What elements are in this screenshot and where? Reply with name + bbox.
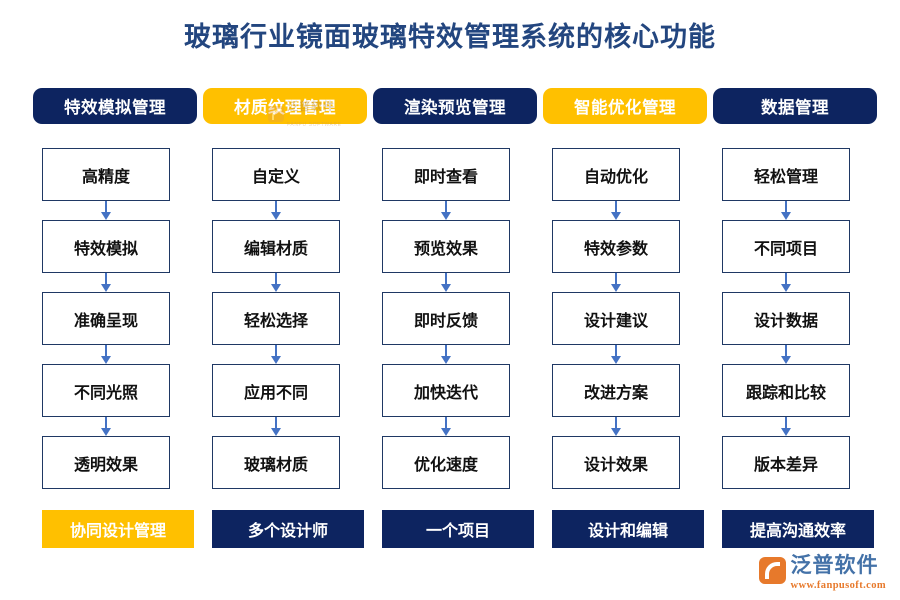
column-footer-3[interactable]: 设计和编辑 — [552, 510, 704, 548]
flow-arrow-1-2 — [274, 345, 278, 364]
flow-arrow-2-1 — [444, 273, 448, 292]
flow-cell-0-1[interactable]: 特效模拟 — [42, 220, 170, 273]
flow-cell-2-3[interactable]: 加快迭代 — [382, 364, 510, 417]
column-header-1[interactable]: 材质纹理管理 — [203, 88, 367, 124]
flow-arrow-2-2 — [444, 345, 448, 364]
column-footer-0[interactable]: 协同设计管理 — [42, 510, 194, 548]
flow-cell-0-2[interactable]: 准确呈现 — [42, 292, 170, 345]
brand-logo: 泛普软件 www.fanpusoft.com — [759, 555, 886, 592]
flow-cell-4-3[interactable]: 跟踪和比较 — [722, 364, 850, 417]
flow-cell-1-0[interactable]: 自定义 — [212, 148, 340, 201]
flow-cell-4-0[interactable]: 轻松管理 — [722, 148, 850, 201]
column-header-4[interactable]: 数据管理 — [713, 88, 877, 124]
brand-name-cn: 泛普软件 — [791, 554, 879, 577]
flow-arrow-3-2 — [614, 345, 618, 364]
flow-cell-1-2[interactable]: 轻松选择 — [212, 292, 340, 345]
flow-cell-1-3[interactable]: 应用不同 — [212, 364, 340, 417]
column-footer-1[interactable]: 多个设计师 — [212, 510, 364, 548]
flow-cell-3-4[interactable]: 设计效果 — [552, 436, 680, 489]
flow-cell-3-1[interactable]: 特效参数 — [552, 220, 680, 273]
flow-arrow-3-1 — [614, 273, 618, 292]
column-header-2[interactable]: 渲染预览管理 — [373, 88, 537, 124]
flow-arrow-1-1 — [274, 273, 278, 292]
flow-arrow-0-2 — [104, 345, 108, 364]
brand-url: www.fanpusoft.com — [791, 580, 886, 591]
flow-cell-4-4[interactable]: 版本差异 — [722, 436, 850, 489]
flow-cell-0-0[interactable]: 高精度 — [42, 148, 170, 201]
flow-arrow-3-0 — [614, 201, 618, 220]
flow-cell-0-4[interactable]: 透明效果 — [42, 436, 170, 489]
flow-arrow-1-0 — [274, 201, 278, 220]
flow-arrow-2-0 — [444, 201, 448, 220]
flowchart-board: 特效模拟管理 高精度 特效模拟 准确呈现 不同光照 透明效果 协同设计管理 材质… — [0, 0, 900, 600]
flow-cell-3-2[interactable]: 设计建议 — [552, 292, 680, 345]
flow-cell-3-0[interactable]: 自动优化 — [552, 148, 680, 201]
flow-cell-3-3[interactable]: 改进方案 — [552, 364, 680, 417]
flow-cell-1-1[interactable]: 编辑材质 — [212, 220, 340, 273]
flow-arrow-2-3 — [444, 417, 448, 436]
column-footer-2[interactable]: 一个项目 — [382, 510, 534, 548]
flow-arrow-0-1 — [104, 273, 108, 292]
flow-cell-0-3[interactable]: 不同光照 — [42, 364, 170, 417]
flow-arrow-0-0 — [104, 201, 108, 220]
flow-cell-4-1[interactable]: 不同项目 — [722, 220, 850, 273]
flow-arrow-0-3 — [104, 417, 108, 436]
flow-arrow-4-0 — [784, 201, 788, 220]
flow-arrow-4-1 — [784, 273, 788, 292]
column-footer-4[interactable]: 提高沟通效率 — [722, 510, 874, 548]
flow-arrow-4-2 — [784, 345, 788, 364]
flow-arrow-1-3 — [274, 417, 278, 436]
flow-arrow-4-3 — [784, 417, 788, 436]
brand-text: 泛普软件 www.fanpusoft.com — [791, 555, 886, 592]
flow-arrow-3-3 — [614, 417, 618, 436]
flow-cell-2-4[interactable]: 优化速度 — [382, 436, 510, 489]
column-header-0[interactable]: 特效模拟管理 — [33, 88, 197, 124]
column-header-3[interactable]: 智能优化管理 — [543, 88, 707, 124]
flow-cell-2-0[interactable]: 即时查看 — [382, 148, 510, 201]
flow-cell-2-1[interactable]: 预览效果 — [382, 220, 510, 273]
fanpu-logo-icon — [759, 557, 786, 584]
flow-cell-1-4[interactable]: 玻璃材质 — [212, 436, 340, 489]
flow-cell-4-2[interactable]: 设计数据 — [722, 292, 850, 345]
flow-cell-2-2[interactable]: 即时反馈 — [382, 292, 510, 345]
